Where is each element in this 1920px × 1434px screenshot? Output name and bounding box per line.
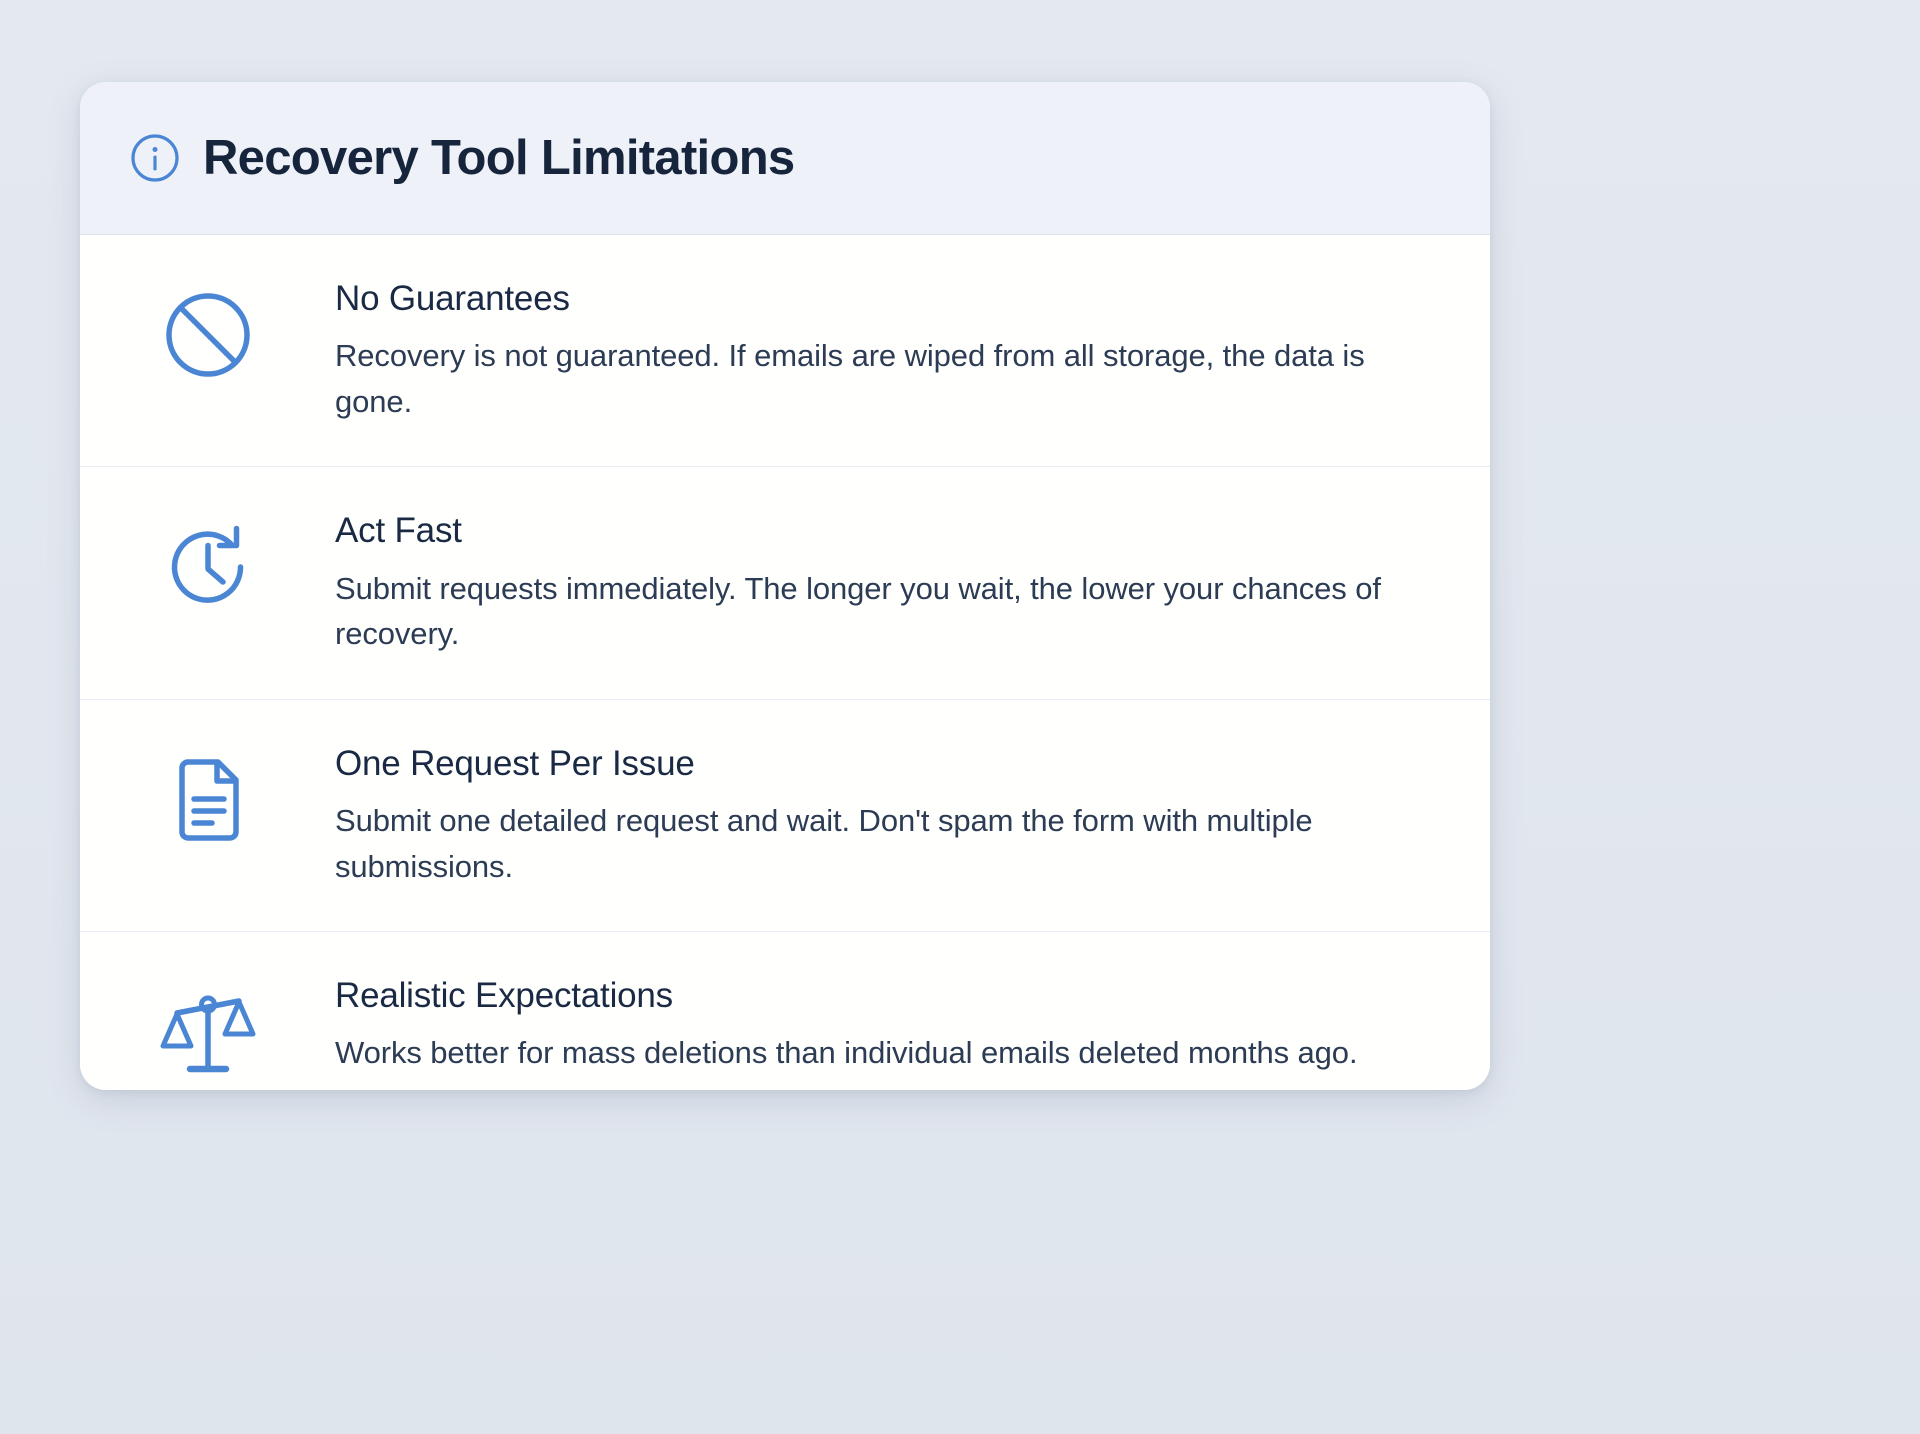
- row-text-block: One Request Per Issue Submit one detaile…: [335, 744, 1434, 889]
- item-title: Act Fast: [335, 511, 1424, 551]
- item-description: Submit requests immediately. The longer …: [335, 566, 1424, 657]
- row-icon-container: [80, 511, 335, 615]
- item-description: Recovery is not guaranteed. If emails ar…: [335, 333, 1424, 424]
- item-title: One Request Per Issue: [335, 744, 1424, 784]
- item-title: No Guarantees: [335, 279, 1424, 319]
- page-title: Recovery Tool Limitations: [203, 134, 794, 183]
- limitations-list: No Guarantees Recovery is not guaranteed…: [80, 235, 1490, 1090]
- prohibition-icon: [160, 287, 256, 383]
- row-icon-container: [80, 976, 335, 1080]
- limitations-card: Recovery Tool Limitations No Guarantees …: [80, 82, 1490, 1090]
- list-item: Realistic Expectations Works better for …: [80, 932, 1490, 1090]
- list-item: No Guarantees Recovery is not guaranteed…: [80, 235, 1490, 467]
- row-text-block: Realistic Expectations Works better for …: [335, 976, 1434, 1076]
- list-item: One Request Per Issue Submit one detaile…: [80, 700, 1490, 932]
- row-text-block: Act Fast Submit requests immediately. Th…: [335, 511, 1434, 656]
- page-root: Recovery Tool Limitations No Guarantees …: [0, 0, 1920, 1434]
- row-text-block: No Guarantees Recovery is not guaranteed…: [335, 279, 1434, 424]
- row-icon-container: [80, 279, 335, 383]
- info-circle-icon: [129, 132, 181, 184]
- item-title: Realistic Expectations: [335, 976, 1424, 1016]
- list-item: Act Fast Submit requests immediately. Th…: [80, 467, 1490, 699]
- item-description: Works better for mass deletions than ind…: [335, 1030, 1424, 1076]
- balance-scales-icon: [160, 984, 256, 1080]
- document-lines-icon: [160, 752, 256, 848]
- clock-rotate-icon: [160, 519, 256, 615]
- item-description: Submit one detailed request and wait. Do…: [335, 798, 1424, 889]
- row-icon-container: [80, 744, 335, 848]
- card-header: Recovery Tool Limitations: [80, 82, 1490, 235]
